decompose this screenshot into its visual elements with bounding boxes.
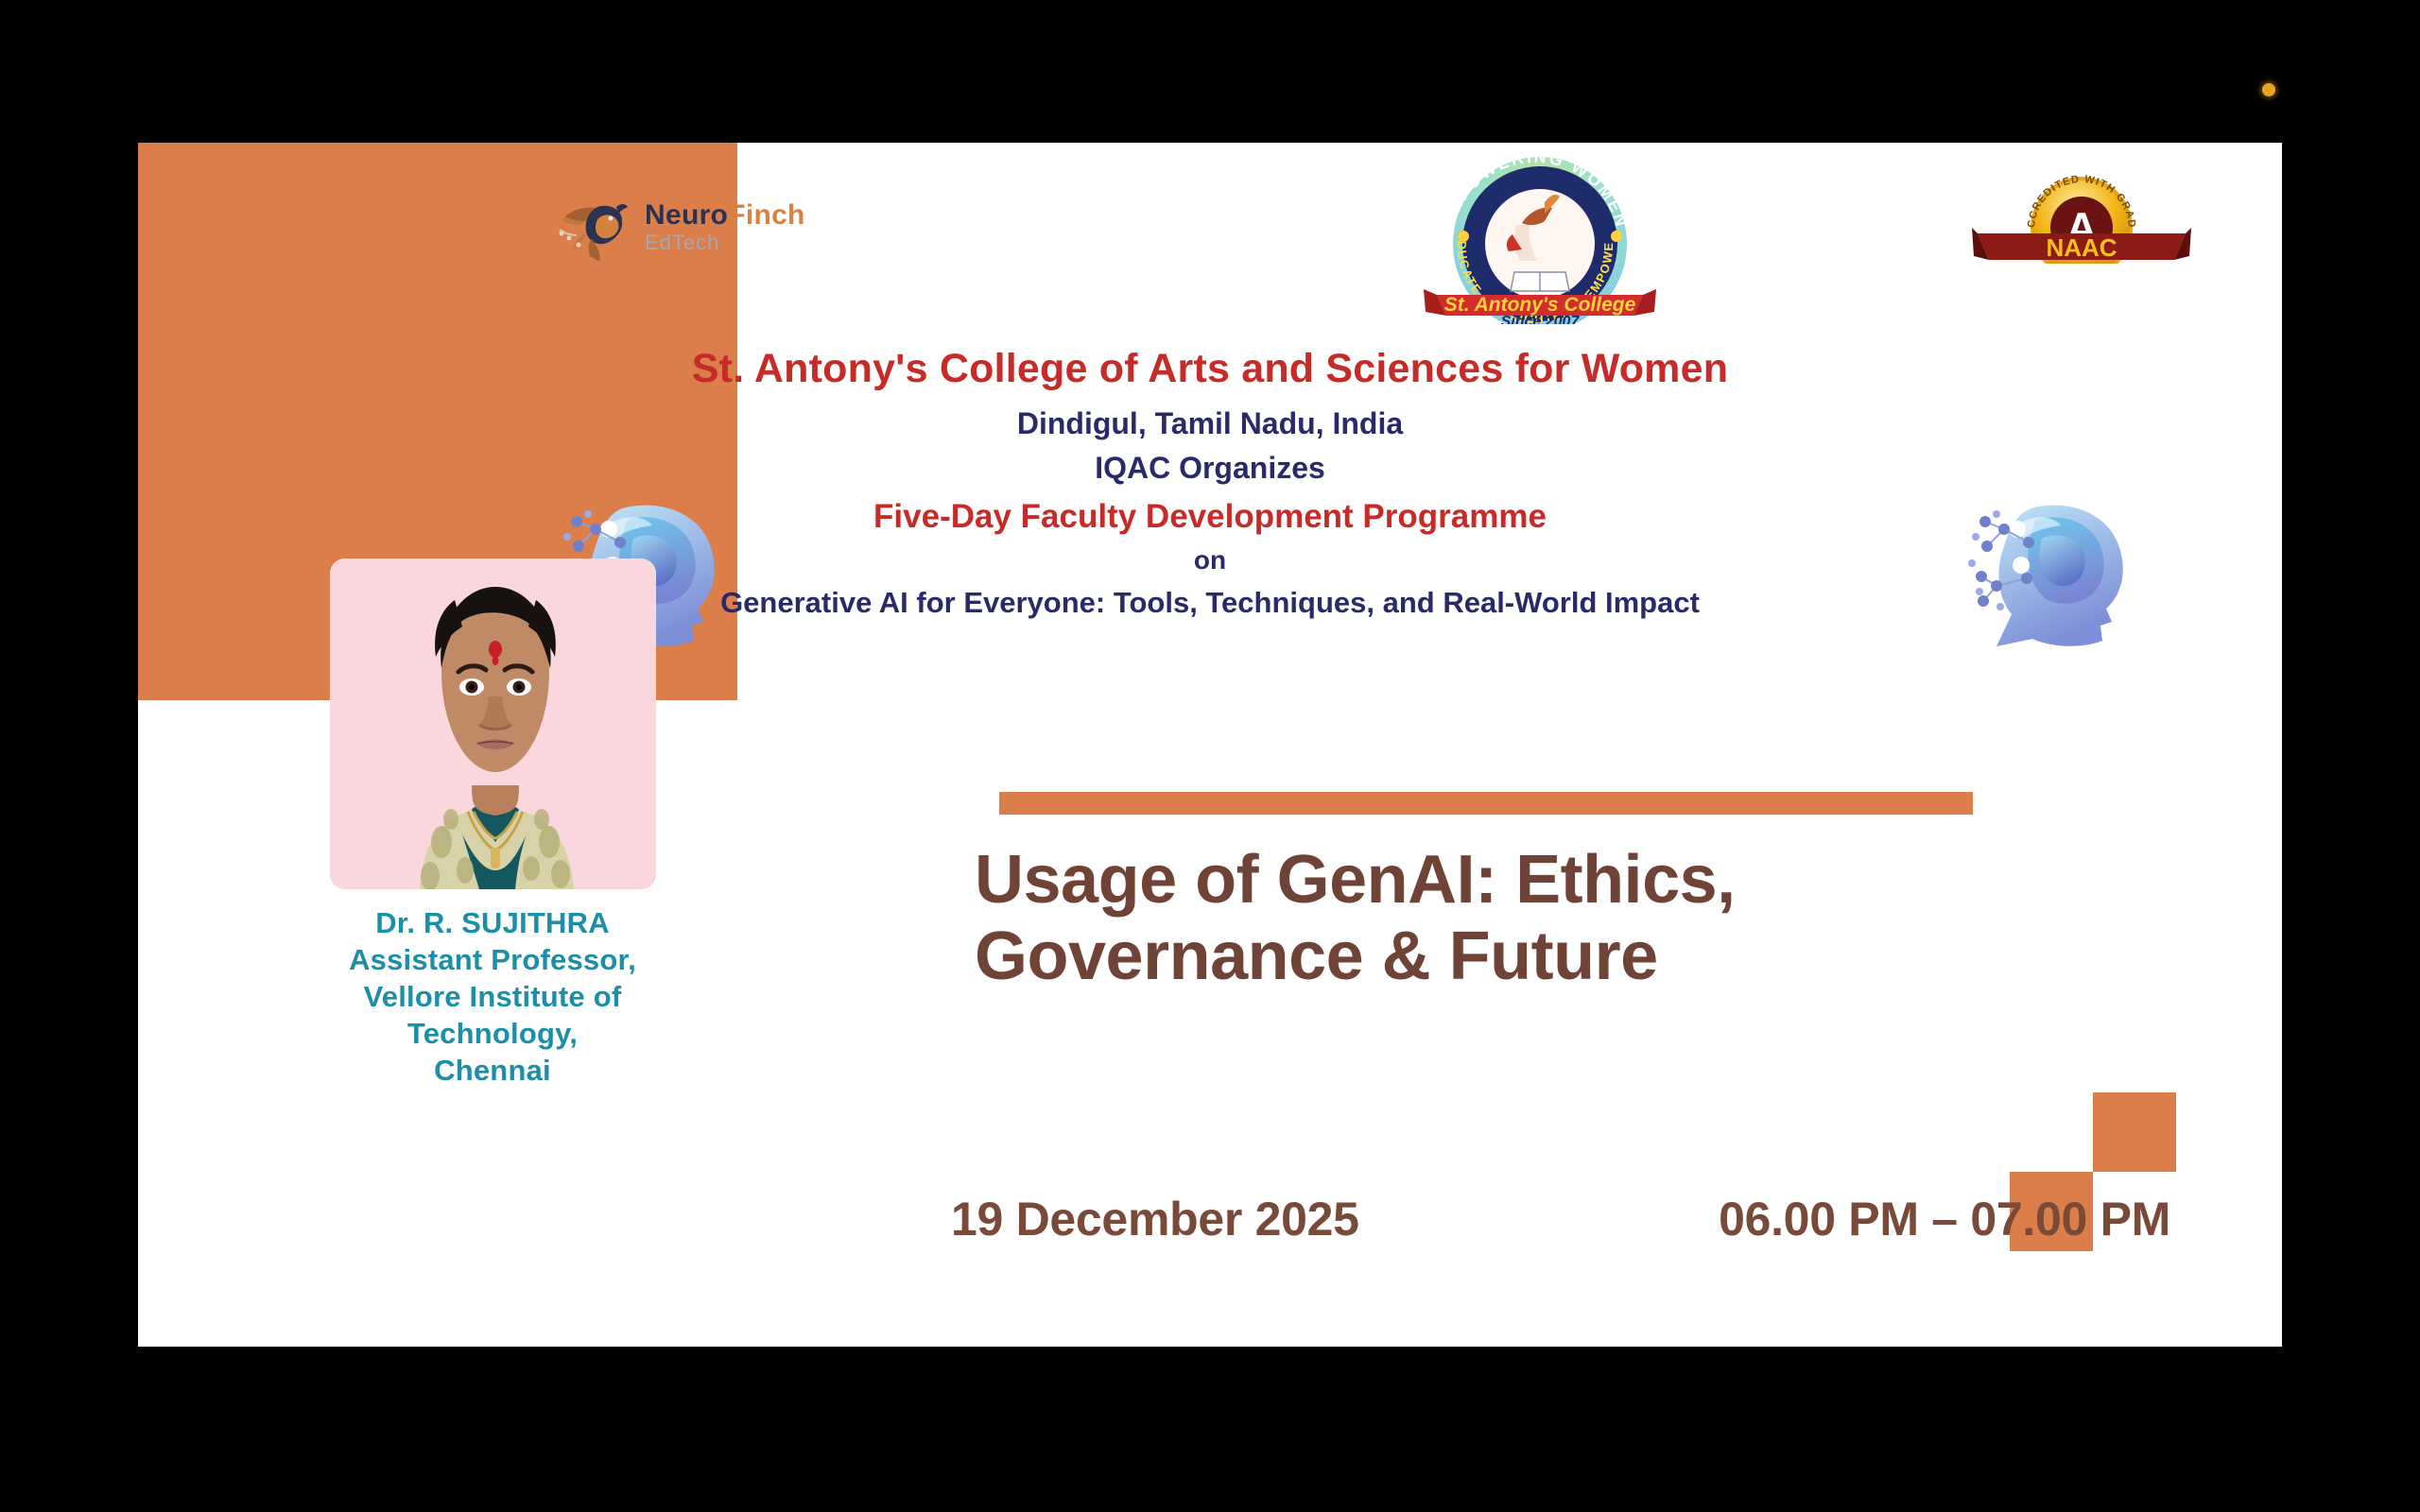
recording-indicator-dot (2262, 83, 2275, 96)
college-location: Dindigul, Tamil Nadu, India (138, 402, 2282, 445)
neurofinch-logo: NeuroFinch EdTech (554, 190, 838, 264)
logo-row: NeuroFinch EdTech E (138, 143, 2282, 322)
crest-since-text: Since 2007 (1501, 314, 1581, 324)
title-accent-bar (999, 792, 1973, 815)
college-name: St. Antony's College of Arts and Science… (138, 346, 2282, 392)
speaker-photo-card (330, 558, 656, 889)
college-crest-logo: EMPOWERING WOMEN EDUCATE ✦ ENLIGHTEN ✦ E… (1403, 143, 1677, 324)
speaker-city: Chennai (237, 1052, 748, 1089)
programme-name: Five-Day Faculty Development Programme (138, 493, 2282, 541)
session-time: 06.00 PM – 07.00 PM (1719, 1192, 2170, 1246)
speaker-details: Dr. R. SUJITHRA Assistant Professor, Vel… (237, 904, 748, 1089)
neurofinch-name-finch: Finch (728, 199, 805, 231)
neurofinch-name-neuro: Neuro (645, 199, 728, 231)
screen-canvas: NeuroFinch EdTech E (0, 0, 2420, 1512)
organizer-line: IQAC Organizes (138, 446, 2282, 490)
crest-ribbon-text: St. Antony's College (1444, 294, 1636, 316)
speaker-portrait-image (330, 558, 656, 889)
naac-badge-logo: ACCREDITED WITH GRADE A NAAC (1972, 162, 2191, 264)
speaker-designation: Assistant Professor, (237, 941, 748, 978)
session-title: Usage of GenAI: Ethics, Governance & Fut… (975, 842, 2147, 994)
decorative-square-top (2093, 1092, 2176, 1172)
neurofinch-subtitle: EdTech (645, 232, 805, 253)
session-footer: 19 December 2025 06.00 PM – 07.00 PM (951, 1192, 2170, 1246)
presentation-slide: NeuroFinch EdTech E (138, 143, 2282, 1347)
speaker-name: Dr. R. SUJITHRA (237, 904, 748, 941)
session-title-line1: Usage of GenAI: Ethics, (975, 842, 2147, 919)
neurofinch-name: NeuroFinch (645, 201, 805, 230)
speaker-institute-line2: Technology, (237, 1015, 748, 1052)
neurofinch-wordmark: NeuroFinch EdTech (645, 201, 805, 253)
speaker-institute-line1: Vellore Institute of (237, 978, 748, 1015)
naac-ribbon-text: NAAC (2046, 233, 2117, 262)
finch-bird-icon (554, 192, 641, 264)
session-title-line2: Governance & Future (975, 919, 2147, 995)
session-date: 19 December 2025 (951, 1192, 1359, 1246)
